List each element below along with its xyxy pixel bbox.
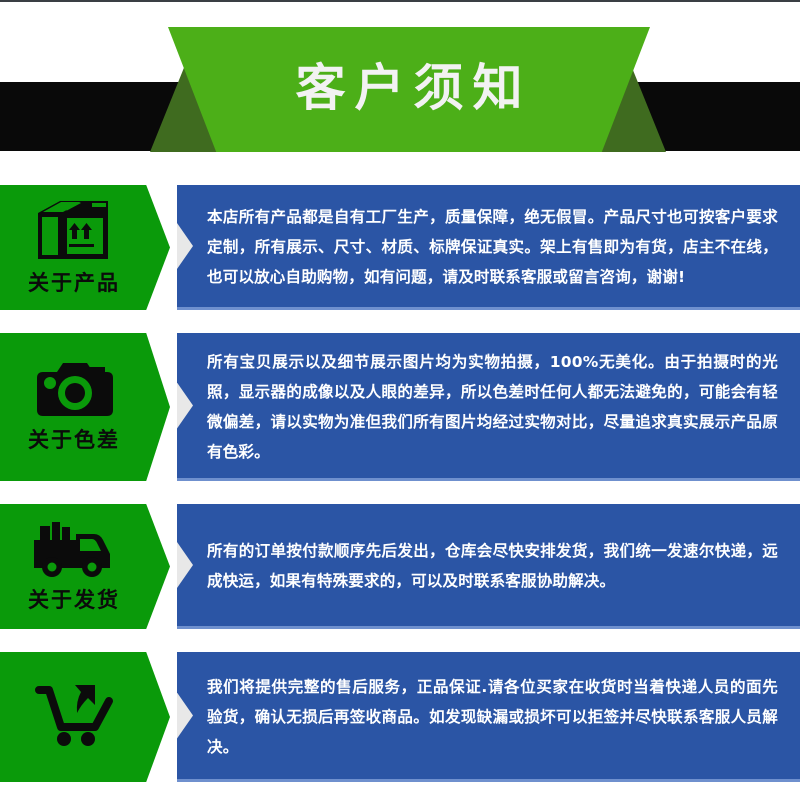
ribbon-banner: 客户须知 <box>168 27 650 152</box>
tag-label: 关于发货 <box>26 584 120 614</box>
panel-arrow-notch <box>177 223 193 269</box>
package-box-icon <box>36 199 110 261</box>
notice-row: 关于色差 所有宝贝展示以及细节展示图片均为实物拍摄，100%无美化。由于拍摄时的… <box>0 333 800 481</box>
notice-row: 我们将提供完整的售后服务，正品保证.请各位买家在收货时当着快递人员的面先验货，确… <box>0 652 800 782</box>
delivery-truck-icon <box>30 520 116 578</box>
notice-panel: 所有的订单按付款顺序先后发出，仓库会尽快安排发货，我们统一发速尔快递，远成快运，… <box>177 504 800 629</box>
page-title: 客户须知 <box>287 63 532 117</box>
tag-about-shipping[interactable]: 关于发货 <box>0 504 170 629</box>
notice-row: 关于产品 本店所有产品都是自有工厂生产，质量保障，绝无假冒。产品尺寸也可按客户要… <box>0 185 800 310</box>
notice-text: 我们将提供完整的售后服务，正品保证.请各位买家在收货时当着快递人员的面先验货，确… <box>207 672 778 762</box>
notice-panel: 所有宝贝展示以及细节展示图片均为实物拍摄，100%无美化。由于拍摄时的光照，显示… <box>177 333 800 481</box>
notice-text: 所有的订单按付款顺序先后发出，仓库会尽快安排发货，我们统一发速尔快递，远成快运，… <box>207 536 778 596</box>
camera-icon <box>33 360 113 418</box>
notice-text: 本店所有产品都是自有工厂生产，质量保障，绝无假冒。产品尺寸也可按客户要求定制，所… <box>207 202 778 292</box>
notice-list: 关于产品 本店所有产品都是自有工厂生产，质量保障，绝无假冒。产品尺寸也可按客户要… <box>0 185 800 805</box>
notice-panel: 本店所有产品都是自有工厂生产，质量保障，绝无假冒。产品尺寸也可按客户要求定制，所… <box>177 185 800 310</box>
return-cart-icon <box>31 681 115 747</box>
notice-text: 所有宝贝展示以及细节展示图片均为实物拍摄，100%无美化。由于拍摄时的光照，显示… <box>207 347 778 467</box>
panel-arrow-notch <box>177 693 193 739</box>
notice-row: 关于发货 所有的订单按付款顺序先后发出，仓库会尽快安排发货，我们统一发速尔快递，… <box>0 504 800 629</box>
panel-arrow-notch <box>177 542 193 588</box>
tag-label: 关于色差 <box>26 424 120 454</box>
page-header: 客户须知 <box>0 0 800 175</box>
panel-arrow-notch <box>177 383 193 429</box>
notice-panel: 我们将提供完整的售后服务，正品保证.请各位买家在收货时当着快递人员的面先验货，确… <box>177 652 800 782</box>
tag-label: 关于产品 <box>26 267 120 297</box>
tag-about-color[interactable]: 关于色差 <box>0 333 170 481</box>
tag-after-sales[interactable] <box>0 652 170 782</box>
tag-about-product[interactable]: 关于产品 <box>0 185 170 310</box>
